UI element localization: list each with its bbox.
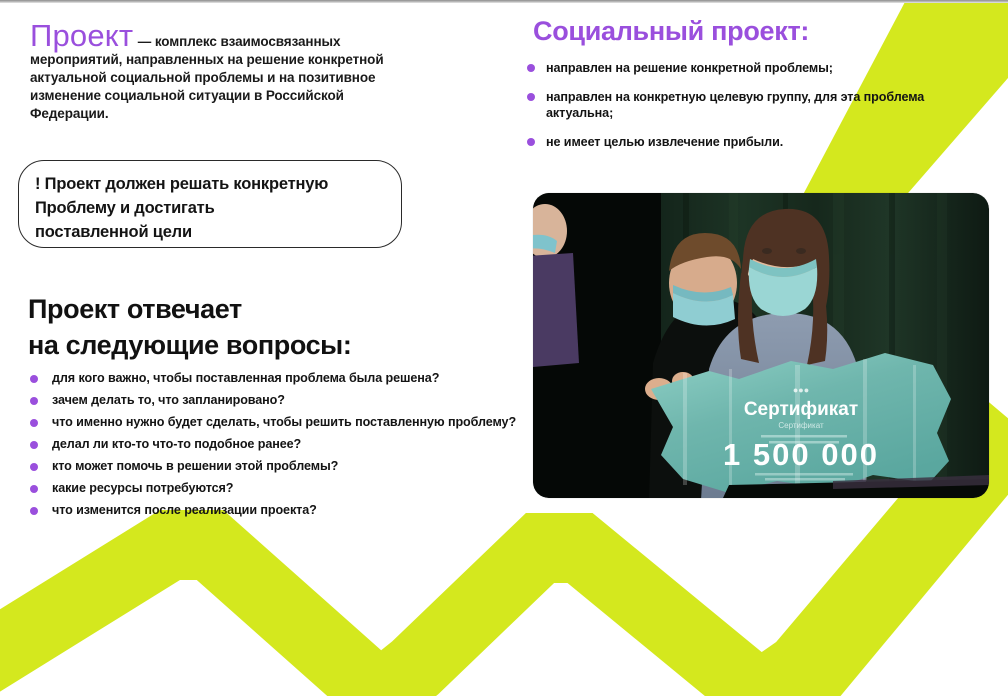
questions-list: для кого важно, чтобы поставленная пробл… (30, 371, 540, 525)
questions-heading-line-1: Проект отвечает (28, 292, 351, 328)
social-project-list: направлен на решение конкретной проблемы… (527, 60, 947, 163)
bullet-dot-icon (30, 397, 38, 405)
social-bullet-text: направлен на конкретную целевую группу, … (546, 89, 947, 122)
list-item: что именно нужно будет сделать, чтобы ре… (30, 415, 540, 429)
bullet-dot-icon (30, 419, 38, 427)
list-item: направлен на решение конкретной проблемы… (527, 60, 947, 77)
bullet-dot-icon (30, 441, 38, 449)
certificate-title: Сертификат (744, 399, 858, 420)
photo-illustration: ●●● Сертификат Сертификат 1 500 000 (533, 193, 989, 498)
bullet-dot-icon (527, 138, 535, 146)
list-item: делал ли кто-то что-то подобное ранее? (30, 437, 540, 451)
certificate-subtitle: Сертификат (778, 421, 824, 430)
question-text: какие ресурсы потребуются? (52, 481, 233, 495)
list-item: зачем делать то, что запланировано? (30, 393, 540, 407)
bullet-dot-icon (30, 485, 38, 493)
social-bullet-text: направлен на решение конкретной проблемы… (546, 60, 833, 77)
zigzag-band-shape-3 (630, 536, 1008, 696)
bullet-dot-icon (30, 507, 38, 515)
question-text: что изменится после реализации проекта? (52, 503, 317, 517)
social-bullet-text: не имеет целью извлечение прибыли. (546, 134, 783, 151)
intro-lead-word: Проект (30, 18, 133, 53)
bullet-dot-icon (527, 64, 535, 72)
list-item: какие ресурсы потребуются? (30, 481, 540, 495)
question-text: делал ли кто-то что-то подобное ранее? (52, 437, 301, 451)
list-item: кто может помочь в решении этой проблемы… (30, 459, 540, 473)
list-item: не имеет целью извлечение прибыли. (527, 134, 947, 151)
questions-heading-line-2: на следующие вопросы: (28, 328, 351, 364)
list-item: для кого важно, чтобы поставленная пробл… (30, 371, 540, 385)
intro-block: Проект — комплекс взаимосвязанных меропр… (30, 20, 390, 123)
callout-line-1: ! Проект должен решать конкретную (35, 172, 385, 196)
zigzag-band-shape-2 (338, 536, 718, 696)
bullet-dot-icon (527, 93, 535, 101)
svg-text:●●●: ●●● (793, 385, 809, 395)
certificate-logo: ●●● (793, 385, 809, 395)
award-ceremony-photo: ●●● Сертификат Сертификат 1 500 000 (533, 193, 989, 498)
certificate-amount: 1 500 000 (723, 437, 879, 472)
callout-line-2: Проблему и достигать (35, 196, 385, 220)
question-text: кто может помочь в решении этой проблемы… (52, 459, 338, 473)
bullet-dot-icon (30, 375, 38, 383)
questions-heading: Проект отвечает на следующие вопросы: (28, 292, 351, 363)
callout-box: ! Проект должен решать конкретную Пробле… (18, 160, 402, 248)
bullet-dot-icon (30, 463, 38, 471)
list-item: направлен на конкретную целевую группу, … (527, 89, 947, 122)
question-text: зачем делать то, что запланировано? (52, 393, 285, 407)
callout-line-3: поставленной цели (35, 220, 385, 244)
social-project-heading: Социальный проект: (533, 17, 809, 47)
list-item: что изменится после реализации проекта? (30, 503, 540, 517)
top-divider-rule (0, 0, 1008, 3)
question-text: что именно нужно будет сделать, чтобы ре… (52, 415, 516, 429)
slide-canvas: Проект — комплекс взаимосвязанных меропр… (0, 0, 1008, 696)
question-text: для кого важно, чтобы поставленная пробл… (52, 371, 439, 385)
